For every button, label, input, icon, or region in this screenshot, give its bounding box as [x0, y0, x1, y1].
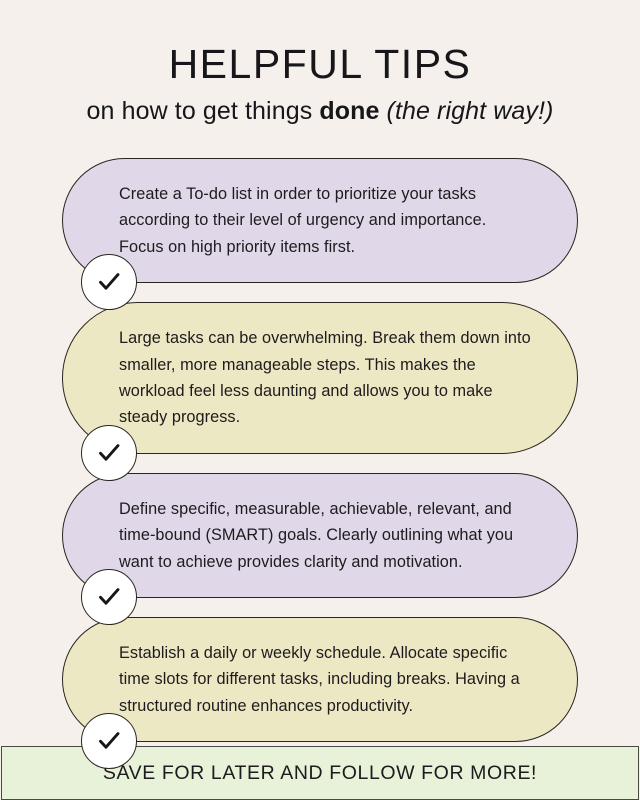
tip-card-2: Large tasks can be overwhelming. Break t… [62, 302, 578, 454]
footer-label: SAVE FOR LATER AND FOLLOW FOR MORE! [103, 762, 537, 785]
check-icon [95, 727, 123, 755]
check-icon [95, 583, 123, 611]
tip-card-3: Define specific, measurable, achievable,… [62, 473, 578, 598]
tip-check-badge-4 [81, 713, 137, 769]
tip-item-4: Establish a daily or weekly schedule. Al… [62, 617, 578, 742]
page-subtitle: on how to get things done (the right way… [0, 98, 640, 126]
subtitle-emphasis: done [319, 97, 379, 125]
tips-list: Create a To-do list in order to prioriti… [62, 158, 578, 742]
tip-card-1: Create a To-do list in order to prioriti… [62, 158, 578, 283]
tip-item-2: Large tasks can be overwhelming. Break t… [62, 302, 578, 454]
tip-card-4: Establish a daily or weekly schedule. Al… [62, 617, 578, 742]
tip-text-1: Create a To-do list in order to prioriti… [119, 181, 535, 260]
tip-item-1: Create a To-do list in order to prioriti… [62, 158, 578, 283]
page-title: HELPFUL TIPS [0, 44, 640, 85]
tip-check-badge-2 [81, 425, 137, 481]
tip-check-badge-3 [81, 569, 137, 625]
tip-check-badge-1 [81, 254, 137, 310]
tip-text-4: Establish a daily or weekly schedule. Al… [119, 640, 535, 719]
subtitle-prefix: on how to get things [87, 97, 320, 125]
tip-gap-1 [62, 283, 578, 302]
tip-text-3: Define specific, measurable, achievable,… [119, 496, 535, 575]
check-icon [95, 268, 123, 296]
tip-item-3: Define specific, measurable, achievable,… [62, 473, 578, 598]
check-icon [95, 439, 123, 467]
subtitle-aside: (the right way!) [379, 97, 553, 125]
tip-text-2: Large tasks can be overwhelming. Break t… [119, 325, 535, 431]
tip-gap-3 [62, 598, 578, 617]
tip-gap-2 [62, 454, 578, 473]
page-header: HELPFUL TIPS on how to get things done (… [0, 0, 640, 126]
